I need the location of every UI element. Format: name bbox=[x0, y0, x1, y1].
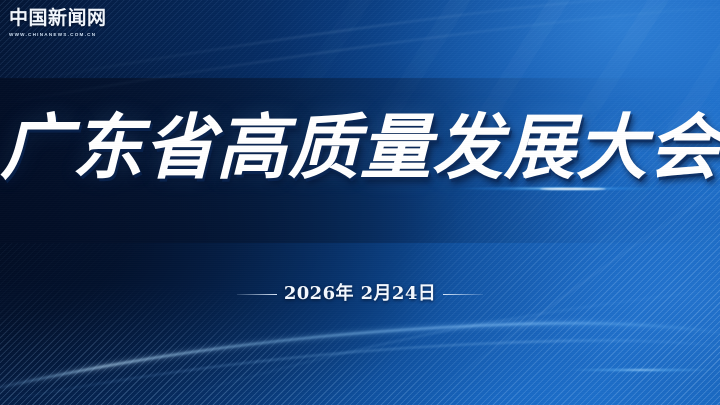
bottom-light-flare bbox=[566, 368, 716, 372]
chinanews-logo[interactable]: 中国新闻网 WWW.CHINANEWS.COM.CN bbox=[9, 8, 129, 38]
poster-title: 广东省高质量发展大会 bbox=[0, 108, 720, 188]
date-line: 2026年 2月24日 bbox=[0, 283, 720, 305]
date-rule-right bbox=[443, 294, 483, 295]
logo-wordmark: 中国新闻网 bbox=[9, 8, 129, 29]
poster-canvas: 中国新闻网 WWW.CHINANEWS.COM.CN 广东省高质量发展大会 20… bbox=[0, 0, 720, 405]
date-text: 2026年 2月24日 bbox=[284, 283, 436, 305]
date-rule-left bbox=[237, 294, 277, 295]
logo-url-text: WWW.CHINANEWS.COM.CN bbox=[9, 31, 129, 38]
